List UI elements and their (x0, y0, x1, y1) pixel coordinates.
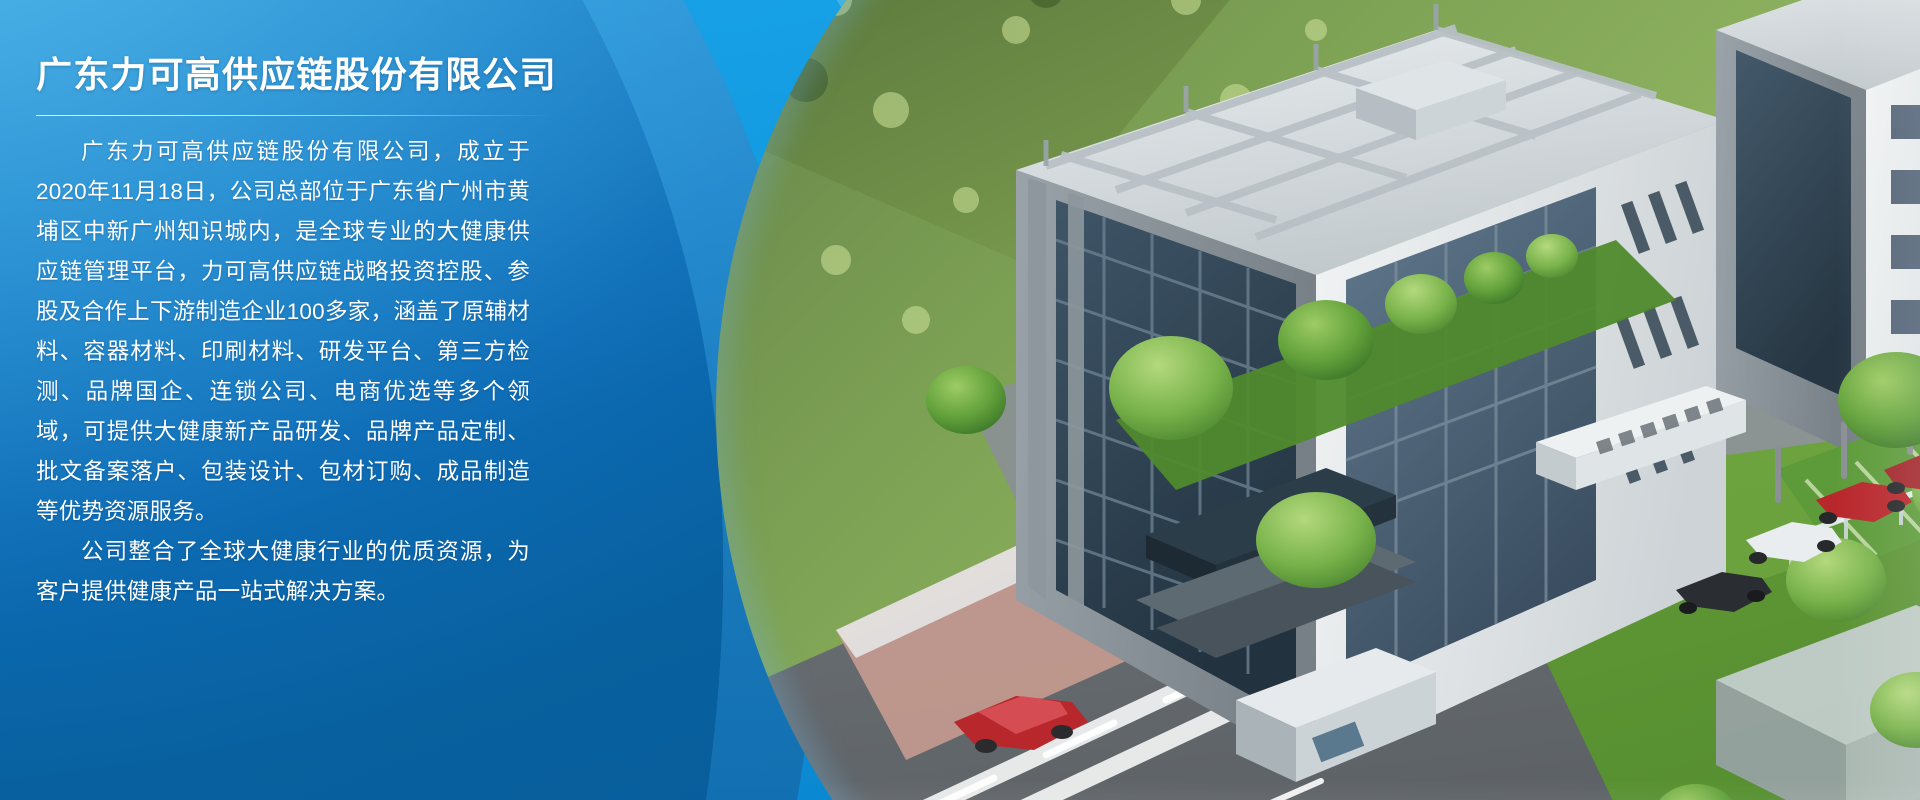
company-profile-banner: 广东力可高供应链股份有限公司 广东力可高供应链股份有限公司，成立于2020年11… (0, 0, 1920, 800)
title-divider (36, 115, 556, 116)
company-description: 广东力可高供应链股份有限公司，成立于2020年11月18日，公司总部位于广东省广… (36, 132, 530, 612)
industrial-park-aerial-rendering (716, 0, 1920, 800)
description-paragraph-1: 广东力可高供应链股份有限公司，成立于2020年11月18日，公司总部位于广东省广… (36, 132, 530, 532)
description-paragraph-2: 公司整合了全球大健康行业的优质资源，为客户提供健康产品一站式解决方案。 (36, 532, 530, 612)
photo-disc (716, 0, 1920, 800)
text-column: 广东力可高供应链股份有限公司 广东力可高供应链股份有限公司，成立于2020年11… (0, 0, 560, 800)
page-title: 广东力可高供应链股份有限公司 (36, 0, 536, 97)
